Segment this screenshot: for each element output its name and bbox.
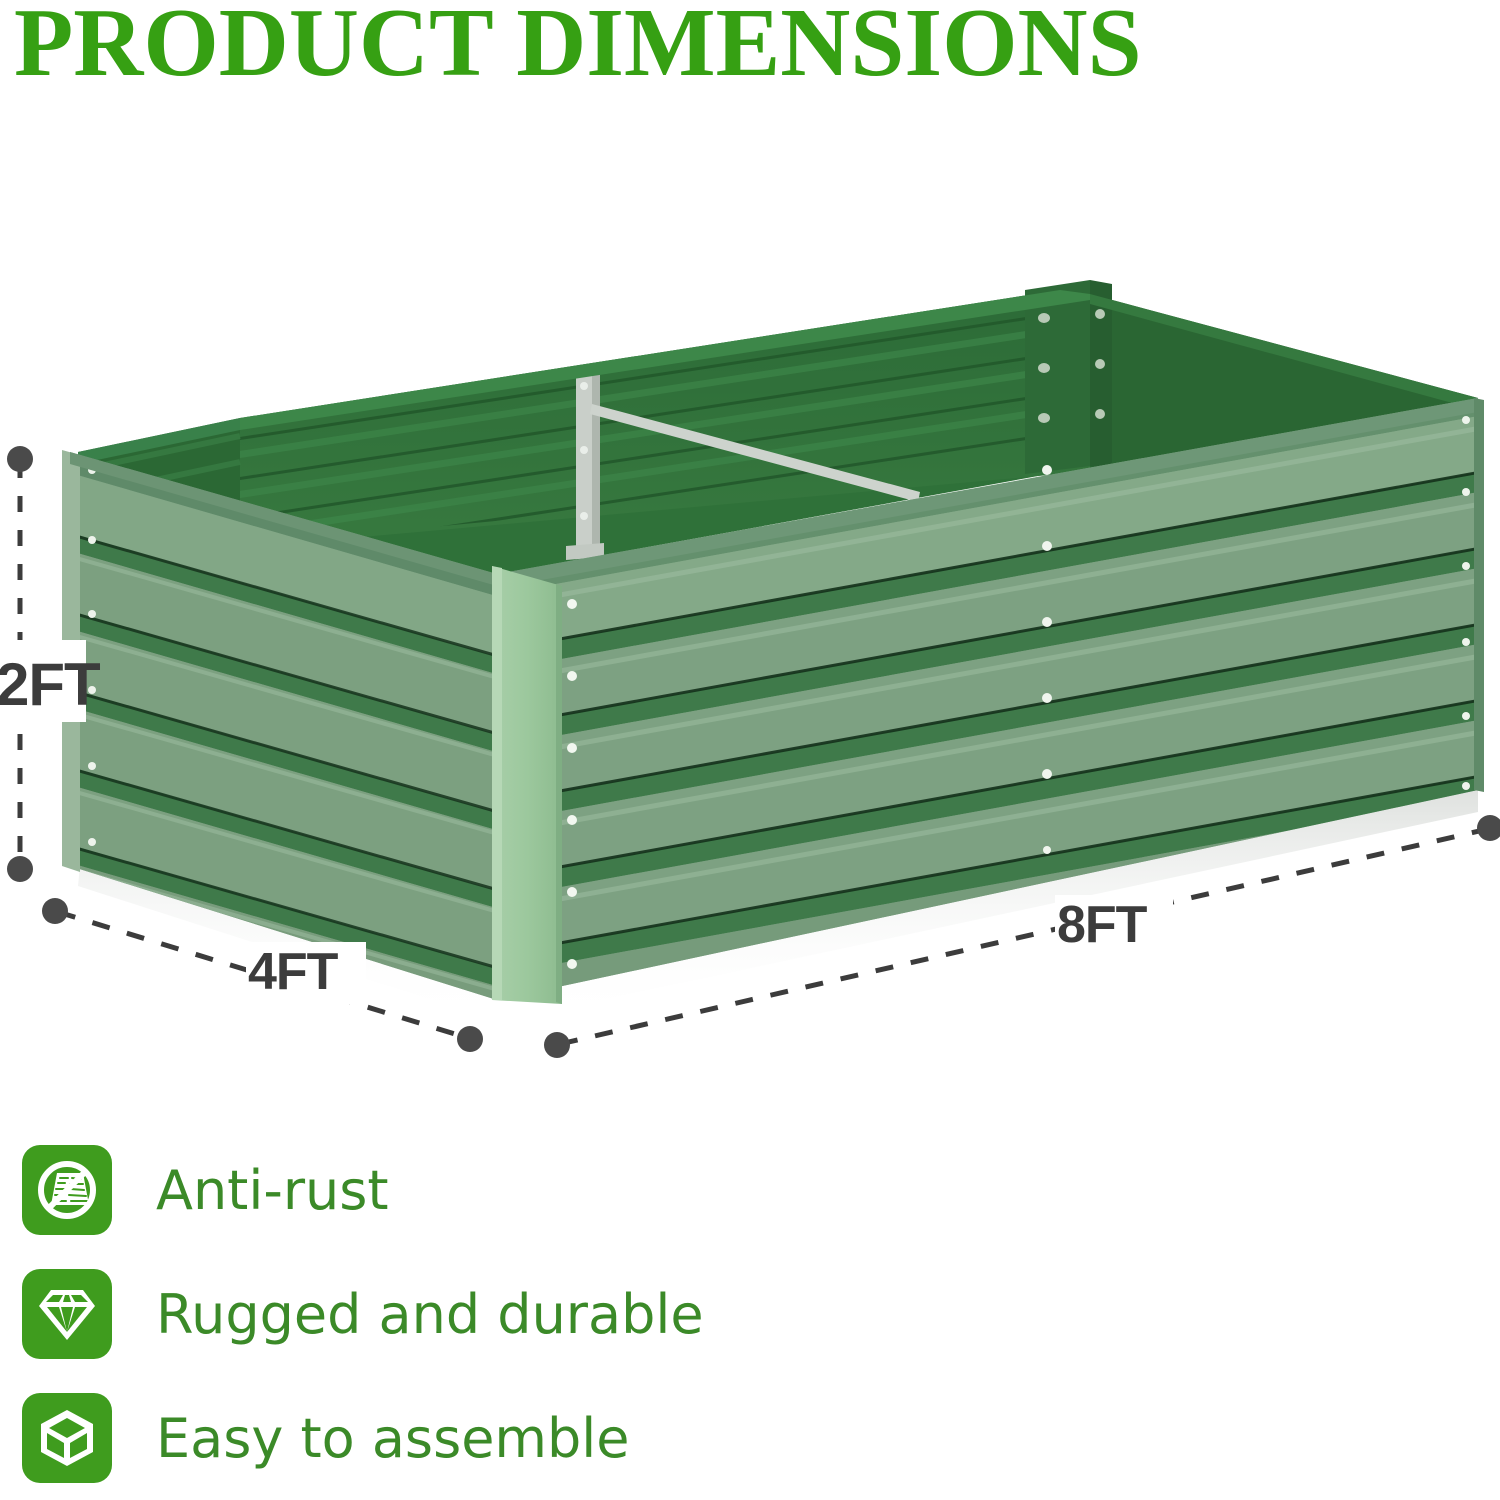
feature-label-easy-assemble: Easy to assemble <box>156 1407 630 1470</box>
feature-item-easy-assemble: Easy to assemble <box>22 1376 922 1500</box>
dimension-label-height: 2FT <box>0 650 100 719</box>
corner-post-rear <box>1025 280 1112 474</box>
diamond-icon <box>22 1269 112 1359</box>
feature-label-rugged: Rugged and durable <box>156 1283 704 1346</box>
feature-list: Anti-rust Rugged and durable <box>22 1128 922 1500</box>
dimension-label-width: 4FT <box>248 942 337 1002</box>
feature-item-rugged: Rugged and durable <box>22 1252 922 1376</box>
dimension-label-length: 8FT <box>1057 895 1146 955</box>
feature-label-anti-rust: Anti-rust <box>156 1159 389 1222</box>
product-illustration <box>0 0 1500 1100</box>
cube-assembly-icon <box>22 1393 112 1483</box>
no-rust-icon <box>22 1145 112 1235</box>
feature-item-anti-rust: Anti-rust <box>22 1128 922 1252</box>
